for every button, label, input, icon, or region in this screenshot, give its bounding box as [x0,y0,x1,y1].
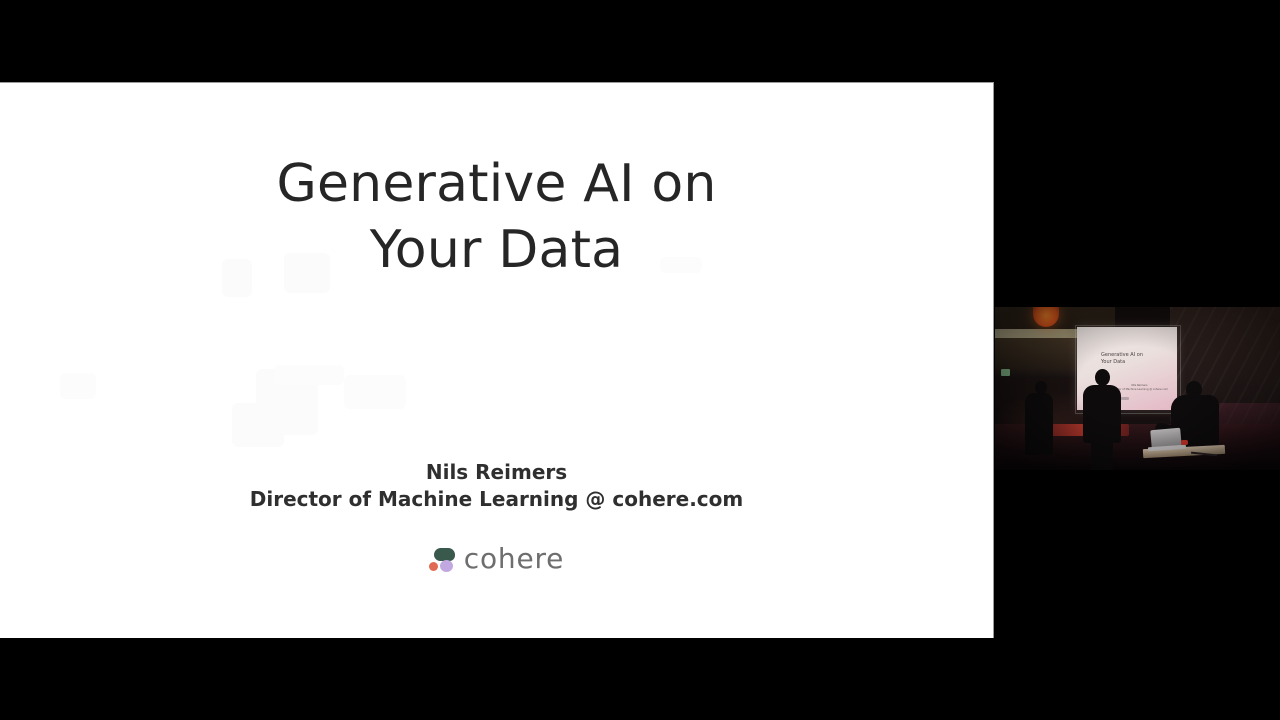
slide-title: Generative AI on Your Data [0,151,993,283]
cohere-logo: cohere [0,545,993,573]
background-artifact [60,373,96,399]
background-artifact [256,369,318,435]
projected-slide-title: Generative AI on Your Data [1101,352,1143,365]
cohere-wordmark: cohere [464,545,564,573]
person-center-legs [1091,440,1113,470]
video-player-stage: Generative AI on Your Data Nils Reimers … [0,0,1280,720]
person-left-badge [1036,401,1043,406]
person-left-head [1035,381,1047,394]
person-center-badge [1098,395,1106,401]
background-artifact [344,375,406,409]
presenter-role: Director of Machine Learning @ cohere.co… [0,486,993,513]
person-center-head [1095,369,1110,386]
background-artifact [274,365,344,385]
logo-blob-green-icon [434,548,455,561]
presentation-slide: Generative AI on Your Data Nils Reimers … [0,82,994,638]
presenter-name: Nils Reimers [0,459,993,486]
logo-blob-coral-icon [429,562,438,571]
cohere-logo-mark-icon [429,547,455,572]
speaker-webcam-pip[interactable]: Generative AI on Your Data Nils Reimers … [995,307,1280,470]
logo-blob-purple-icon [440,560,453,572]
person-right-head [1186,381,1202,398]
person-center-body [1083,385,1121,443]
wristband [1181,440,1188,445]
background-artifact [232,403,284,447]
exit-sign-icon [1001,369,1010,376]
letterbox-bar-top [0,0,1280,81]
letterbox-bar-bottom [0,638,1280,720]
